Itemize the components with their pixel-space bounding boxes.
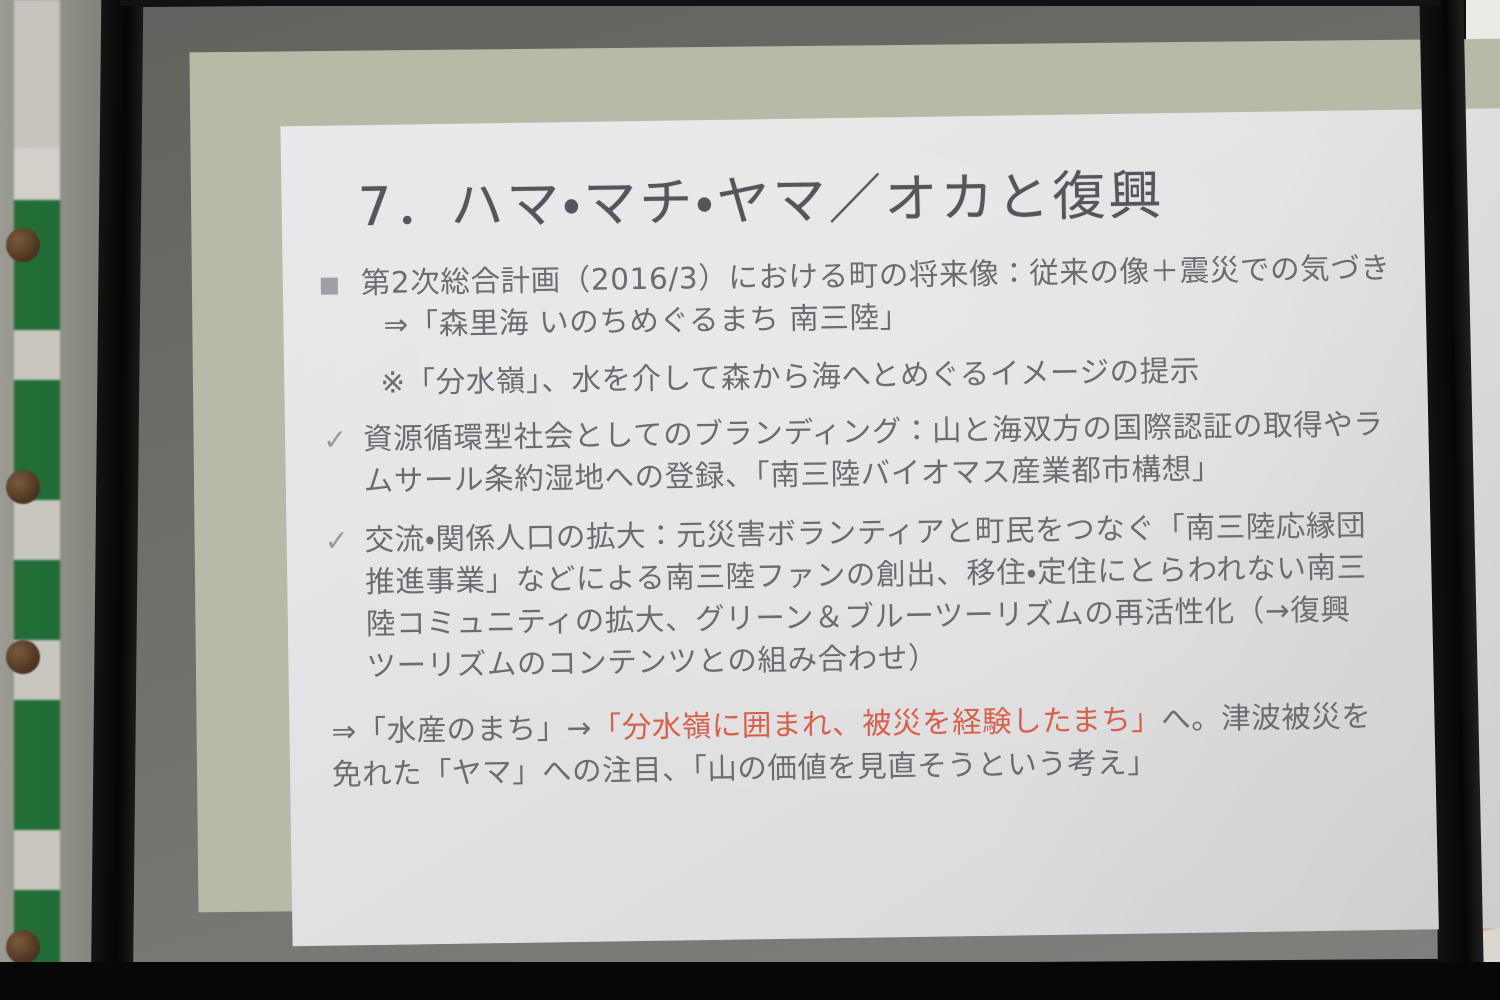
bullet-body: 交流・関係人口の拡大：元災害ボランティアと町民をつなぐ「南三陸応縁団 推進事業」…	[364, 506, 1368, 688]
note-line: ※「分水嶺」、水を介して森から海へとめぐるイメージの提示	[318, 345, 1500, 405]
bullet-body: 第2次総合計画（2016/3）における町の将来像：従来の像＋震災での気づき ⇒「…	[361, 248, 1392, 347]
slide-title: 7．ハマ・マチ・ヤマ／オカと復興	[315, 147, 1500, 242]
screen-frame-bottom	[0, 962, 1500, 1000]
projection-screen: 7．ハマ・マチ・ヤマ／オカと復興 第2次総合計画（2016/3）における町の将来…	[124, 0, 1438, 969]
poster-logo-icon	[6, 228, 40, 262]
check-glyph: ✓	[324, 524, 349, 558]
projected-slide: 7．ハマ・マチ・ヤマ／オカと復興 第2次総合計画（2016/3）における町の将来…	[280, 107, 1500, 946]
check-glyph: ✓	[323, 422, 348, 456]
screen-frame-top	[120, 0, 1440, 6]
square-bullet-icon	[317, 263, 362, 305]
slide-bullet-block-2: ✓ 資源循環型社会としてのブランディング：山と海双方の国際認証の取得やラ ムサー…	[319, 401, 1500, 503]
poster-logo-icon	[6, 930, 40, 964]
slide-bullet-block-3: ✓ 交流・関係人口の拡大：元災害ボランティアと町民をつなぐ「南三陸応縁団 推進事…	[320, 503, 1500, 689]
slide-content: 7．ハマ・マチ・ヤマ／オカと復興 第2次総合計画（2016/3）における町の将来…	[280, 107, 1500, 797]
conclusion-tail: へ。津波被災を	[1161, 699, 1371, 736]
slide-bullet-block-1: 第2次総合計画（2016/3）における町の将来像：従来の像＋震災での気づき ⇒「…	[317, 245, 1500, 347]
slide-conclusion: ⇒「水産のまち」→「分水嶺に囲まれ、被災を経験したまち」へ。津波被災を 免れた「…	[323, 692, 1500, 796]
conclusion-highlight: 「分水嶺に囲まれ、被災を経験したまち」	[592, 702, 1162, 744]
check-icon: ✓	[320, 521, 365, 562]
conclusion-lead: ⇒「水産のまち」→	[331, 711, 592, 749]
poster-logo-icon	[6, 640, 40, 674]
check-icon: ✓	[319, 419, 364, 460]
screen-mat-border: 7．ハマ・マチ・ヤマ／オカと復興 第2次総合計画（2016/3）における町の将来…	[189, 38, 1500, 912]
photo-scene: 7．ハマ・マチ・ヤマ／オカと復興 第2次総合計画（2016/3）における町の将来…	[0, 0, 1500, 1000]
poster-logo-icon	[6, 470, 40, 504]
bullet-body: 資源循環型社会としてのブランディング：山と海双方の国際認証の取得やラ ムサール条…	[363, 404, 1385, 503]
